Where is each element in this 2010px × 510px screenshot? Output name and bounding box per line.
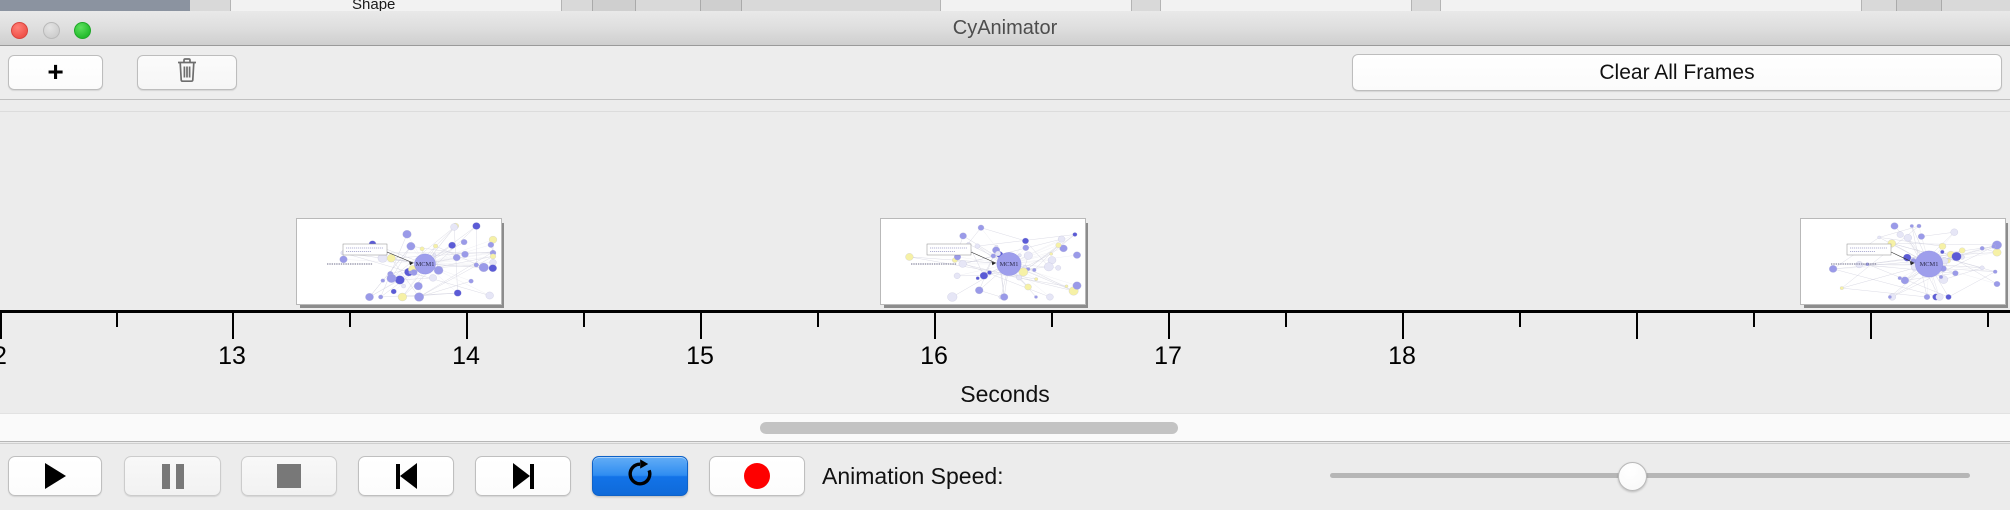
background-slab-b (700, 0, 742, 11)
ruler-tick (1636, 313, 1638, 339)
ruler-tick (349, 313, 351, 327)
ruler-tick (817, 313, 819, 327)
svg-text:MCM1: MCM1 (1920, 261, 1939, 268)
cyanimator-window: Shape CyAnimator + Clear All (0, 0, 2010, 510)
frame-thumbnail-3[interactable]: MCM1 (1800, 218, 2004, 303)
timeline-panel[interactable]: MCM1MCM1MCM1 2131415161718 Seconds (0, 100, 2010, 413)
clear-all-frames-button[interactable]: Clear All Frames (1352, 54, 2002, 91)
axis-title: Seconds (0, 381, 2010, 408)
frame-toolbar: + Clear All Frames (0, 46, 2010, 100)
ruler-tick (583, 313, 585, 327)
playback-control-bar: Animation Speed: (0, 443, 2010, 510)
play-button[interactable] (8, 456, 102, 496)
background-window-label: Shape (352, 0, 395, 11)
background-panel-a (230, 0, 562, 11)
ruler-tick-label: 18 (1362, 342, 1442, 371)
skip-to-start-button[interactable] (358, 456, 454, 496)
ruler-tick-label: 14 (426, 342, 506, 371)
plus-icon: + (47, 58, 63, 86)
add-frame-button[interactable]: + (8, 55, 103, 90)
frame-thumbnail-image: MCM1 (296, 218, 502, 305)
timeline-top-divider (0, 111, 2010, 112)
timeline-ruler-line (0, 310, 2010, 313)
skip-forward-icon (513, 463, 534, 489)
ruler-tick (232, 313, 234, 339)
svg-text:MCM1: MCM1 (416, 261, 435, 268)
record-icon (744, 463, 770, 489)
ruler-tick-label: 16 (894, 342, 974, 371)
ruler-tick (1519, 313, 1521, 327)
loop-button[interactable] (592, 456, 688, 496)
pause-button[interactable] (124, 456, 221, 496)
skip-back-icon (396, 463, 417, 489)
delete-frame-button[interactable] (137, 55, 237, 90)
ruler-tick (466, 313, 468, 339)
play-icon (45, 463, 66, 489)
skip-to-end-button[interactable] (475, 456, 571, 496)
background-titlebar-dark (0, 0, 190, 11)
frame-thumbnail-image: MCM1 (880, 218, 1086, 305)
animation-speed-label: Animation Speed: (822, 463, 1004, 490)
trash-icon (176, 57, 198, 88)
scrollbar-thumb[interactable] (760, 422, 1178, 434)
background-panel-c (1160, 0, 1412, 11)
stop-button[interactable] (241, 456, 337, 496)
frame-thumbnail-image: MCM1 (1800, 218, 2006, 305)
ruler-tick-label: 13 (192, 342, 272, 371)
ruler-tick (1402, 313, 1404, 339)
ruler-tick (116, 313, 118, 327)
ruler-tick-label: 15 (660, 342, 740, 371)
ruler-tick (1753, 313, 1755, 327)
animation-speed-slider-knob[interactable] (1618, 462, 1647, 491)
ruler-tick (1870, 313, 1872, 339)
pause-icon (162, 464, 184, 489)
svg-text:MCM1: MCM1 (1000, 261, 1019, 268)
background-slab-a (592, 0, 636, 11)
record-button[interactable] (709, 456, 805, 496)
background-panel-b (940, 0, 1132, 11)
ruler-tick (934, 313, 936, 339)
animation-speed-slider[interactable] (1330, 473, 1970, 478)
titlebar[interactable]: CyAnimator (0, 11, 2010, 46)
ruler-tick (0, 313, 2, 339)
ruler-tick (1051, 313, 1053, 327)
ruler-tick (1987, 313, 1989, 327)
loop-icon (625, 459, 655, 494)
ruler-tick (1168, 313, 1170, 339)
background-window-sliver: Shape (0, 0, 2010, 11)
timeline-horizontal-scrollbar[interactable] (0, 413, 2010, 442)
background-panel-d (1440, 0, 1862, 11)
ruler-tick-label: 2 (0, 342, 40, 371)
frame-thumbnail-2[interactable]: MCM1 (880, 218, 1084, 303)
ruler-tick-label: 17 (1128, 342, 1208, 371)
background-slab-c (1896, 0, 1942, 11)
ruler-tick (700, 313, 702, 339)
clear-all-frames-label: Clear All Frames (1599, 61, 1754, 85)
stop-icon (277, 464, 301, 488)
ruler-tick (1285, 313, 1287, 327)
frame-thumbnail-1[interactable]: MCM1 (296, 218, 500, 303)
window-title: CyAnimator (0, 11, 2010, 46)
